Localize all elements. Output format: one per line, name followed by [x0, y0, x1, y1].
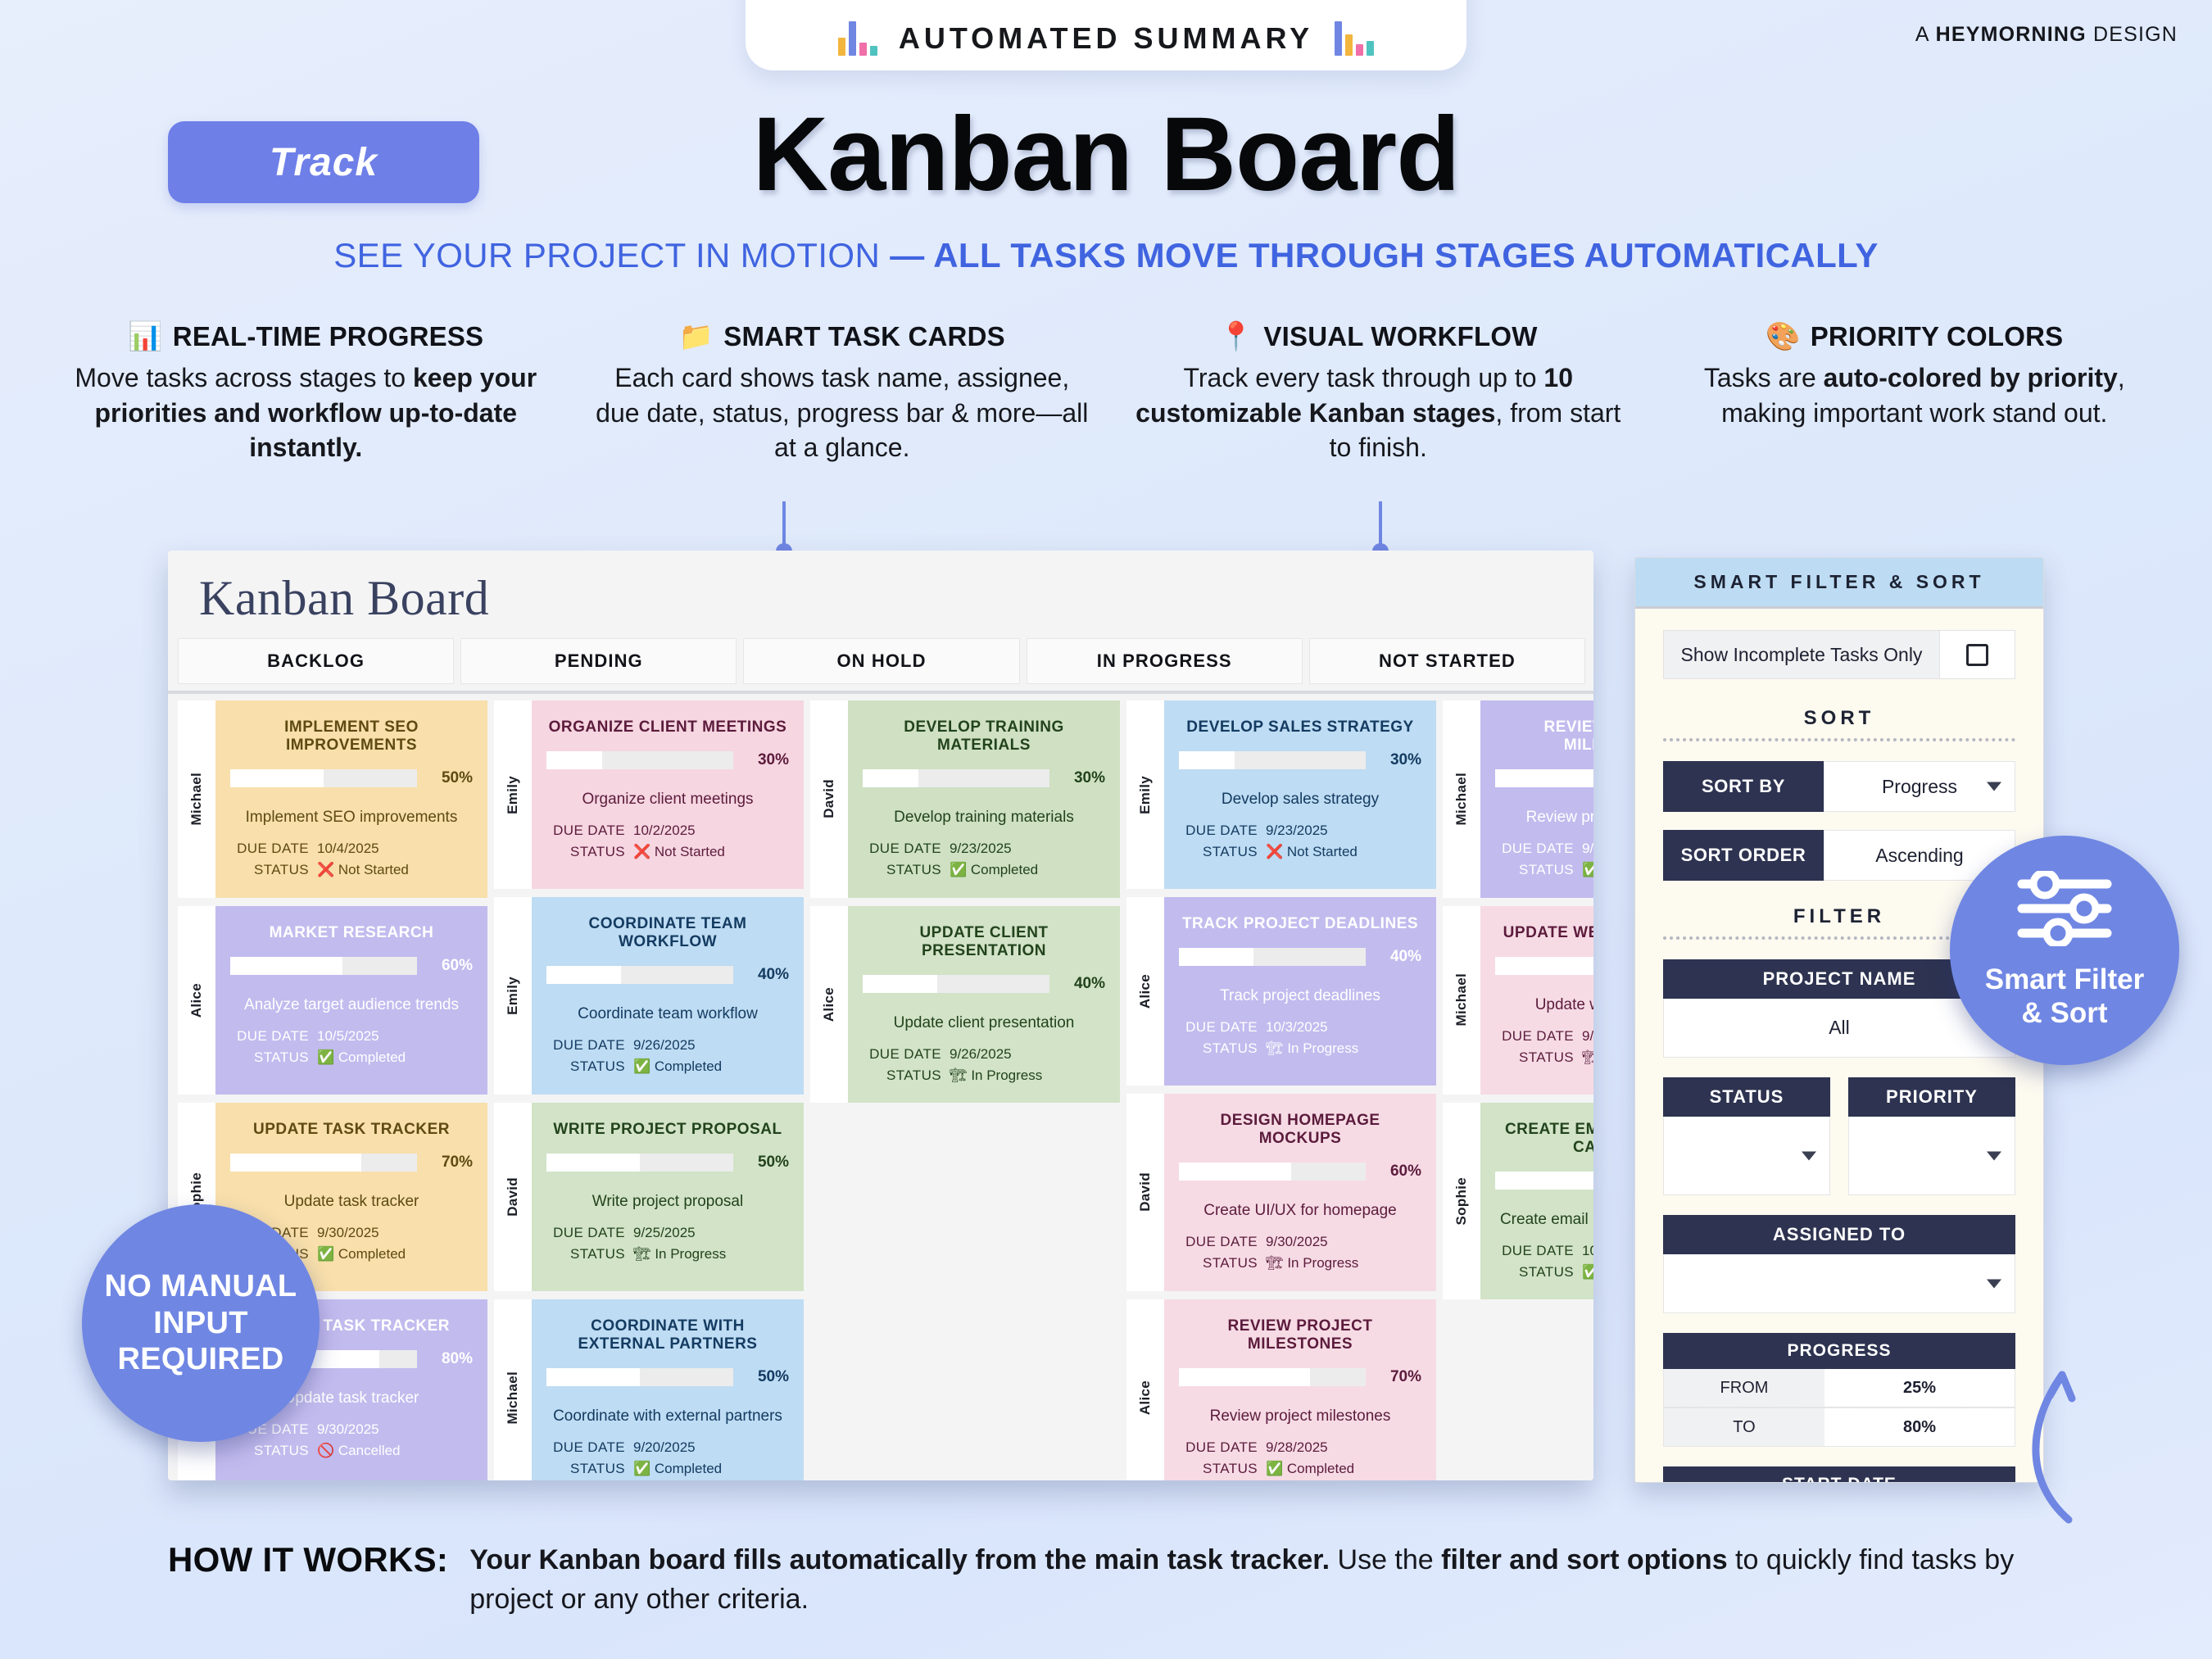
status-value: 🏗 In Progress [1266, 1038, 1421, 1059]
progress-percent: 40% [1061, 975, 1105, 993]
column-header-4[interactable]: NOT STARTED [1309, 638, 1585, 684]
sort-by-value: Progress [1882, 776, 1957, 798]
connector-smart-task-cards [782, 501, 786, 552]
empty-slot [810, 1308, 1120, 1480]
status-select[interactable] [1663, 1117, 1830, 1195]
feature-0-title: REAL-TIME PROGRESS [173, 321, 483, 352]
feature-1-title: SMART TASK CARDS [723, 321, 1005, 352]
empty-slot [1443, 1308, 1593, 1480]
chevron-down-icon [1987, 1279, 2001, 1288]
status-label: STATUS [1179, 841, 1258, 863]
status-label: STATUS [230, 859, 309, 881]
progress-percent: 70% [428, 1154, 473, 1172]
progress-bar-fill [546, 751, 602, 769]
card-task-name: UPDATE CLIENT PRESENTATION [863, 924, 1105, 960]
due-date-value: 9/23/2025 [950, 838, 1105, 859]
card-task-name: MARKET RESEARCH [230, 924, 473, 942]
status-value: 🏗 In Progress [1266, 1253, 1421, 1274]
credit-brand: HEYMORNING [1936, 23, 2087, 46]
card-description: Coordinate team workflow [546, 1005, 789, 1023]
card-meta: DUE DATE9/26/2025 STATUS✅ Completed [1495, 838, 1593, 882]
task-card[interactable]: David DESIGN HOMEPAGE MOCKUPS 60% Create… [1126, 1094, 1436, 1291]
card-assignee: Alice [178, 906, 215, 1095]
no-manual-input-badge: NO MANUALINPUTREQUIRED [82, 1204, 320, 1442]
status-value: ❌ Not Started [317, 859, 473, 881]
card-description: Coordinate with external partners [546, 1407, 789, 1426]
empty-slot [810, 1111, 1120, 1299]
feature-2-title: VISUAL WORKFLOW [1263, 321, 1537, 352]
task-card[interactable]: Michael UPDATE WEBSITE CONTENT 80% Updat… [1443, 906, 1593, 1095]
column-header-1[interactable]: PENDING [460, 638, 737, 684]
card-assignee: David [1126, 1094, 1164, 1291]
no-manual-input-label: NO MANUALINPUTREQUIRED [105, 1268, 297, 1378]
sort-section-title: SORT [1663, 707, 2015, 730]
progress-bar-fill [230, 1154, 361, 1172]
page-title: Kanban Board [0, 94, 2212, 215]
check-mark-icon: ✅ [633, 1058, 650, 1074]
status-value: 🚫 Cancelled [317, 1440, 473, 1462]
map-pin-icon: 📍 [1219, 323, 1254, 351]
board-column-3: Emily DEVELOP SALES STRATEGY 30% Develop… [1126, 700, 1436, 1480]
check-mark-icon: ✅ [317, 1246, 334, 1262]
card-meta: DUE DATE10/4/2025 STATUS❌ Not Started [230, 838, 473, 882]
due-date-label: DUE DATE [1495, 838, 1574, 859]
card-description: Track project deadlines [1179, 987, 1421, 1005]
card-description: Update website content [1495, 996, 1593, 1014]
status-value: ✅ Completed [1582, 859, 1593, 881]
due-date-label: DUE DATE [1495, 1026, 1574, 1047]
progress-bar-track [230, 1154, 417, 1172]
progress-bar-track [546, 1154, 733, 1172]
card-description: Develop sales strategy [1179, 791, 1421, 809]
checkbox-icon [1966, 644, 1988, 666]
due-date-label: DUE DATE [863, 838, 941, 859]
progress-bar-fill [546, 1154, 640, 1172]
status-label: STATUS [1663, 1077, 1830, 1117]
task-card[interactable]: Emily COORDINATE TEAM WORKFLOW 40% Coord… [494, 897, 804, 1095]
status-value: ✅ Completed [633, 1056, 789, 1077]
task-card[interactable]: Alice REVIEW PROJECT MILESTONES 70% Revi… [1126, 1299, 1436, 1480]
card-assignee: Alice [810, 906, 848, 1104]
progress-bar-track [546, 966, 733, 984]
how-it-works: HOW IT WORKS: Your Kanban board fills au… [168, 1540, 2026, 1620]
card-assignee: David [494, 1103, 532, 1291]
card-description: Develop training materials [863, 809, 1105, 827]
check-mark-icon: ✅ [950, 862, 967, 877]
card-task-name: REVIEW PROJECT MILESTONES [1179, 1317, 1421, 1353]
card-description: Create UI/UX for homepage [1179, 1202, 1421, 1220]
card-task-name: COORDINATE TEAM WORKFLOW [546, 915, 789, 951]
progress-bar-track [1179, 948, 1366, 966]
card-progress: 70% [1179, 1368, 1421, 1386]
task-card[interactable]: Emily DEVELOP SALES STRATEGY 30% Develop… [1126, 700, 1436, 889]
feature-2: 📍 VISUAL WORKFLOW Track every task throu… [1122, 321, 1635, 465]
card-assignee: Emily [494, 897, 532, 1095]
range-0-to-label: TO [1664, 1408, 1824, 1446]
progress-bar-track [1495, 1172, 1593, 1190]
smart-filter-badge: Smart Filter& Sort [1950, 836, 2179, 1065]
sort-by-select[interactable]: Progress [1824, 761, 2015, 812]
status-value: ✅ Completed [1582, 1262, 1593, 1283]
due-date-value: 9/30/2025 [317, 1419, 473, 1440]
panel-title: SMART FILTER & SORT [1635, 558, 2043, 609]
curved-arrow-icon [2011, 1360, 2101, 1528]
status-value: ✅ Completed [1266, 1458, 1421, 1480]
feature-3-title: PRIORITY COLORS [1811, 321, 2064, 352]
credit-line: A HEYMORNING DESIGN [1915, 23, 2178, 47]
progress-percent: 60% [428, 957, 473, 975]
due-date-label: DUE DATE [546, 1437, 625, 1458]
assignee-name: Alice [188, 983, 205, 1018]
smart-filter-label: Smart Filter& Sort [1985, 963, 2145, 1030]
card-description: Update task tracker [230, 1193, 473, 1211]
how-it-works-text: Your Kanban board fills automatically fr… [469, 1540, 2026, 1620]
assignee-name: David [505, 1177, 521, 1217]
in-progress-icon: 🏗 [950, 1067, 968, 1083]
progress-percent: 50% [745, 1368, 789, 1386]
task-card[interactable]: Sophie CREATE EMAIL MARKETING CAMPAIGN 8… [1443, 1103, 1593, 1300]
card-description: Write project proposal [546, 1193, 789, 1211]
progress-percent: 60% [1377, 1163, 1421, 1181]
due-date-label: DUE DATE [230, 1026, 309, 1047]
status-label: STATUS [546, 1056, 625, 1077]
range-0-from-row[interactable]: FROM 25% [1663, 1369, 2015, 1407]
credit-prefix: A [1915, 23, 1936, 46]
progress-percent: 70% [1377, 1368, 1421, 1386]
due-date-value: 9/25/2025 [633, 1222, 789, 1244]
due-date-value: 9/30/2025 [317, 1222, 473, 1244]
card-meta: DUE DATE9/26/2025 STATUS🏗 In Progress [863, 1044, 1105, 1087]
status-label: STATUS [230, 1440, 309, 1462]
progress-bar-track [230, 769, 417, 787]
task-card[interactable]: Michael IMPLEMENT SEO IMPROVEMENTS 50% I… [178, 700, 487, 898]
due-date-label: DUE DATE [546, 1035, 625, 1056]
card-progress: 30% [546, 751, 789, 769]
progress-bar-fill [546, 966, 621, 984]
task-card[interactable]: Emily ORGANIZE CLIENT MEETINGS 30% Organ… [494, 700, 804, 889]
feature-1-header: 📁 SMART TASK CARDS [594, 321, 1091, 352]
connector-visual-workflow [1379, 501, 1382, 552]
card-task-name: CREATE EMAIL MARKETING CAMPAIGN [1495, 1121, 1593, 1157]
due-date-value: 10/3/2025 [1266, 1017, 1421, 1038]
card-progress: 50% [230, 769, 473, 787]
pill-label: AUTOMATED SUMMARY [899, 21, 1313, 56]
card-progress: 30% [863, 769, 1105, 787]
due-date-value: 9/20/2025 [633, 1437, 789, 1458]
card-assignee: Michael [494, 1299, 532, 1480]
priority-filter[interactable]: PRIORITY [1848, 1077, 2015, 1195]
progress-bar-fill [1179, 751, 1235, 769]
due-date-label: DUE DATE [1179, 1437, 1258, 1458]
check-mark-icon: ✅ [1582, 1264, 1593, 1280]
in-progress-icon: 🏗 [1582, 1049, 1593, 1065]
due-date-label: DUE DATE [1495, 1240, 1574, 1262]
card-assignee: Emily [1126, 700, 1164, 889]
due-date-value: 9/26/2025 [633, 1035, 789, 1056]
progress-bar-track [1495, 957, 1593, 975]
card-task-name: COORDINATE WITH EXTERNAL PARTNERS [546, 1317, 789, 1353]
priority-label: PRIORITY [1848, 1077, 2015, 1117]
status-label: STATUS [1495, 1262, 1574, 1283]
progress-bar-fill [1495, 1172, 1593, 1190]
range-filters: PROGRESS FROM 25% TO 80% START DATE FROM… [1663, 1333, 2015, 1483]
progress-bar-track [1179, 1368, 1366, 1386]
card-progress: 30% [1179, 751, 1421, 769]
in-progress-icon: 🏗 [633, 1246, 651, 1262]
progress-bar-track [1179, 751, 1366, 769]
assignee-name: Michael [505, 1371, 521, 1424]
due-date-value: 10/2/2025 [633, 820, 789, 841]
card-meta: DUE DATE10/1/2025 STATUS✅ Completed [1495, 1240, 1593, 1284]
task-card[interactable]: Michael COORDINATE WITH EXTERNAL PARTNER… [494, 1299, 804, 1480]
card-meta: DUE DATE10/5/2025 STATUS✅ Completed [230, 1026, 473, 1069]
task-card[interactable]: Michael REVIEW PROJECT MILESTONES 60% Re… [1443, 700, 1593, 898]
folder-icon: 📁 [679, 323, 714, 351]
range-0-title: PROGRESS [1663, 1333, 2015, 1369]
bar-chart-icon-right [1335, 20, 1374, 56]
sort-by-row[interactable]: SORT BY Progress [1663, 761, 2015, 812]
card-meta: DUE DATE9/28/2025 STATUS✅ Completed [1179, 1437, 1421, 1480]
card-task-name: WRITE PROJECT PROPOSAL [546, 1121, 789, 1139]
assignee-name: David [821, 779, 837, 818]
card-task-name: ORGANIZE CLIENT MEETINGS [546, 718, 789, 737]
status-label: STATUS [1179, 1038, 1258, 1059]
progress-percent: 40% [1377, 948, 1421, 966]
progress-percent: 30% [1377, 751, 1421, 769]
status-label: STATUS [1179, 1458, 1258, 1480]
progress-bar-track [863, 769, 1049, 787]
progress-bar-track [863, 975, 1049, 993]
progress-bar-track [546, 1368, 733, 1386]
board-column-headers: BACKLOGPENDINGON HOLDIN PROGRESSNOT STAR… [168, 638, 1593, 689]
credit-suffix: DESIGN [2087, 23, 2178, 46]
range-0-from-value[interactable]: 25% [1824, 1369, 2015, 1407]
feature-2-header: 📍 VISUAL WORKFLOW [1130, 321, 1627, 352]
assignee-name: Alice [1137, 974, 1154, 1009]
status-value: ❌ Not Started [1266, 841, 1421, 863]
feature-1-body: Each card shows task name, assignee, due… [594, 360, 1091, 465]
card-meta: DUE DATE9/23/2025 STATUS❌ Not Started [1179, 820, 1421, 863]
progress-bar-fill [1179, 1163, 1291, 1181]
sort-order-label: SORT ORDER [1663, 830, 1824, 881]
board-column-1: Emily ORGANIZE CLIENT MEETINGS 30% Organ… [494, 700, 804, 1480]
palette-icon: 🎨 [1766, 323, 1801, 351]
card-meta: DUE DATE9/25/2025 STATUS🏗 In Progress [546, 1222, 789, 1266]
sort-order-row[interactable]: SORT ORDER Ascending [1663, 830, 2015, 881]
show-incomplete-row[interactable]: Show Incomplete Tasks Only [1663, 630, 2015, 679]
assignee-name: Michael [188, 773, 205, 825]
feature-1: 📁 SMART TASK CARDS Each card shows task … [586, 321, 1099, 465]
card-progress: 60% [1495, 769, 1593, 787]
due-date-label: DUE DATE [863, 1044, 941, 1065]
priority-select[interactable] [1848, 1117, 2015, 1195]
due-date-value: 10/4/2025 [317, 838, 473, 859]
assigned-to-select[interactable] [1663, 1254, 2015, 1313]
column-header-2[interactable]: ON HOLD [743, 638, 1019, 684]
card-assignee: Michael [1443, 700, 1480, 898]
range-0-to-value[interactable]: 80% [1824, 1408, 2015, 1446]
how-it-works-mid: Use the [1330, 1544, 1441, 1575]
cancelled-icon: 🚫 [317, 1443, 334, 1458]
assigned-to-label: ASSIGNED TO [1663, 1215, 2015, 1254]
status-value: ✅ Completed [950, 859, 1105, 881]
task-card[interactable]: Alice UPDATE CLIENT PRESENTATION 40% Upd… [810, 906, 1120, 1104]
due-date-label: DUE DATE [546, 1222, 625, 1244]
column-header-0[interactable]: BACKLOG [178, 638, 454, 684]
status-filter[interactable]: STATUS [1663, 1077, 1830, 1195]
progress-bar-track [1179, 1163, 1366, 1181]
status-label: STATUS [1495, 859, 1574, 881]
feature-3: 🎨 PRIORITY COLORS Tasks are auto-colored… [1658, 321, 2172, 465]
status-label: STATUS [546, 841, 625, 863]
due-date-value: 9/8/2025 [1582, 1026, 1593, 1047]
how-it-works-heading: HOW IT WORKS: [168, 1540, 448, 1580]
board-column-4: Michael REVIEW PROJECT MILESTONES 60% Re… [1443, 700, 1593, 1480]
card-task-name: IMPLEMENT SEO IMPROVEMENTS [230, 718, 473, 755]
cross-mark-icon: ❌ [1266, 844, 1283, 859]
sort-divider [1663, 738, 2015, 741]
card-assignee: Sophie [1443, 1103, 1480, 1300]
subtitle-dash: — [890, 236, 924, 274]
assignee-name: David [1137, 1172, 1154, 1212]
how-it-works-bold-2: filter and sort options [1441, 1544, 1727, 1575]
progress-bar-fill [230, 957, 342, 975]
range-0-to-row[interactable]: TO 80% [1663, 1407, 2015, 1447]
card-task-name: UPDATE WEBSITE CONTENT [1495, 924, 1593, 942]
progress-bar-fill [1179, 1368, 1310, 1386]
how-it-works-bold-1: Your Kanban board fills automatically fr… [469, 1544, 1330, 1575]
card-meta: DUE DATE9/30/2025 STATUS🏗 In Progress [1179, 1231, 1421, 1275]
card-assignee: Alice [1126, 897, 1164, 1086]
due-date-value: 9/26/2025 [1582, 838, 1593, 859]
progress-bar-fill [1495, 769, 1593, 787]
card-progress: 70% [230, 1154, 473, 1172]
progress-percent: 80% [428, 1350, 473, 1368]
card-description: Review project milestones [1495, 809, 1593, 827]
page-subtitle: SEE YOUR PROJECT IN MOTION — ALL TASKS M… [0, 236, 2212, 275]
cross-mark-icon: ❌ [317, 862, 334, 877]
card-progress: 80% [1495, 957, 1593, 975]
show-incomplete-checkbox[interactable] [1939, 631, 2015, 678]
task-card[interactable]: David DEVELOP TRAINING MATERIALS 30% Dev… [810, 700, 1120, 898]
progress-bar-track [1495, 769, 1593, 787]
status-label: STATUS [863, 1065, 941, 1086]
progress-percent: 50% [745, 1154, 789, 1172]
feature-0: 📊 REAL-TIME PROGRESS Move tasks across s… [49, 321, 563, 465]
board-columns: Michael IMPLEMENT SEO IMPROVEMENTS 50% I… [168, 694, 1593, 1480]
check-mark-icon: ✅ [633, 1461, 650, 1476]
feature-3-body: Tasks are auto-colored by priority, maki… [1666, 360, 2164, 430]
card-description: Analyze target audience trends [230, 996, 473, 1014]
card-meta: DUE DATE10/3/2025 STATUS🏗 In Progress [1179, 1017, 1421, 1060]
progress-percent: 50% [428, 769, 473, 787]
task-card[interactable]: Alice MARKET RESEARCH 60% Analyze target… [178, 906, 487, 1095]
card-task-name: DESIGN HOMEPAGE MOCKUPS [1179, 1112, 1421, 1148]
card-meta: DUE DATE9/26/2025 STATUS✅ Completed [546, 1035, 789, 1078]
sliders-icon [2015, 871, 2114, 954]
assignee-name: Emily [1137, 776, 1154, 814]
due-date-value: 10/5/2025 [317, 1026, 473, 1047]
progress-bar-fill [863, 975, 937, 993]
sort-order-value: Ascending [1875, 845, 1963, 867]
range-filter-0: PROGRESS FROM 25% TO 80% [1663, 1333, 2015, 1447]
chevron-down-icon [1987, 782, 2001, 791]
assignee-name: Michael [1453, 773, 1470, 825]
column-header-3[interactable]: IN PROGRESS [1027, 638, 1303, 684]
status-value: ✅ Completed [317, 1244, 473, 1265]
feature-2-body: Track every task through up to 10 custom… [1130, 360, 1627, 465]
card-description: Review project milestones [1179, 1407, 1421, 1426]
card-progress: 50% [546, 1154, 789, 1172]
due-date-label: DUE DATE [1179, 1231, 1258, 1253]
due-date-label: DUE DATE [1179, 1017, 1258, 1038]
task-card[interactable]: Alice TRACK PROJECT DEADLINES 40% Track … [1126, 897, 1436, 1086]
card-assignee: David [810, 700, 848, 898]
in-progress-icon: 🏗 [1266, 1255, 1284, 1271]
assignee-name: Alice [821, 987, 837, 1022]
due-date-value: 9/23/2025 [1266, 820, 1421, 841]
feature-0-body: Move tasks across stages to keep your pr… [57, 360, 555, 465]
assignee-name: Michael [1453, 973, 1470, 1026]
card-meta: DUE DATE9/23/2025 STATUS✅ Completed [863, 838, 1105, 882]
status-label: STATUS [546, 1244, 625, 1265]
task-card[interactable]: David WRITE PROJECT PROPOSAL 50% Write p… [494, 1103, 804, 1291]
check-mark-icon: ✅ [1582, 862, 1593, 877]
board-title: Kanban Board [168, 551, 1593, 638]
cross-mark-icon: ❌ [633, 844, 650, 859]
kanban-board: Kanban Board BACKLOGPENDINGON HOLDIN PRO… [168, 551, 1593, 1480]
feature-3-header: 🎨 PRIORITY COLORS [1666, 321, 2164, 352]
card-task-name: REVIEW PROJECT MILESTONES [1495, 718, 1593, 755]
assignee-name: Emily [505, 977, 521, 1015]
assignee-name: Sophie [1453, 1177, 1470, 1225]
card-progress: 40% [546, 966, 789, 984]
range-0-from-label: FROM [1664, 1369, 1824, 1407]
card-meta: DUE DATE10/2/2025 STATUS❌ Not Started [546, 820, 789, 863]
card-meta: DUE DATE9/8/2025 STATUS🏗 In Progress [1495, 1026, 1593, 1069]
sort-by-label: SORT BY [1663, 761, 1824, 812]
progress-percent: 40% [745, 966, 789, 984]
status-label: STATUS [546, 1458, 625, 1480]
card-assignee: Michael [178, 700, 215, 898]
card-task-name: UPDATE TASK TRACKER [230, 1121, 473, 1139]
progress-bar-fill [863, 769, 918, 787]
feature-list: 📊 REAL-TIME PROGRESS Move tasks across s… [49, 321, 2171, 465]
progress-bar-fill [1495, 957, 1593, 975]
subtitle-light: SEE YOUR PROJECT IN MOTION [333, 236, 880, 274]
card-assignee: Emily [494, 700, 532, 889]
subtitle-bold: ALL TASKS MOVE THROUGH STAGES AUTOMATICA… [933, 236, 1879, 274]
bar-chart-icon: 📊 [128, 323, 163, 351]
card-task-name: TRACK PROJECT DEADLINES [1179, 915, 1421, 933]
card-progress: 50% [546, 1368, 789, 1386]
range-filter-1: START DATE FROM 9/1/2025 TO 10/1/2025 [1663, 1466, 2015, 1483]
progress-bar-track [546, 751, 733, 769]
assignee-name: Emily [505, 776, 521, 814]
check-mark-icon: ✅ [1266, 1461, 1283, 1476]
due-date-value: 9/30/2025 [1266, 1231, 1421, 1253]
status-value: 🏗 In Progress [950, 1065, 1105, 1086]
status-label: STATUS [230, 1047, 309, 1068]
progress-percent: 30% [1061, 769, 1105, 787]
status-label: STATUS [1495, 1047, 1574, 1068]
card-description: Create email marketing campaign [1495, 1211, 1593, 1229]
assigned-to-filter[interactable]: ASSIGNED TO [1663, 1215, 2015, 1313]
status-value: 🏗 In Progress [633, 1244, 789, 1265]
due-date-value: 10/1/2025 [1582, 1240, 1593, 1262]
card-progress: 80% [1495, 1172, 1593, 1190]
project-name-value[interactable]: All [1663, 999, 2015, 1058]
